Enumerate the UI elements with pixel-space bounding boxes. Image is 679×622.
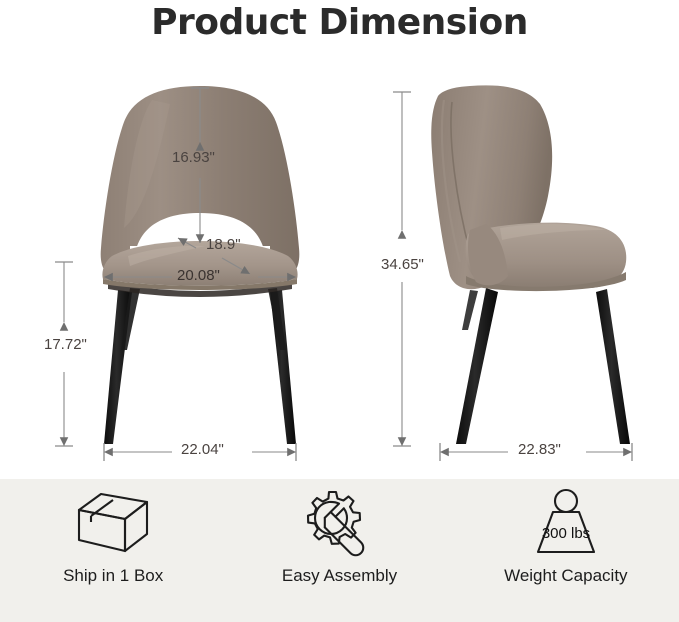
dimension-label-overall-width: 22.04" [181,441,224,458]
dimension-label-seat-depth: 18.9" [206,236,241,253]
shipping-box-icon [71,488,155,560]
dimension-label-back-height: 16.93" [172,149,215,166]
dimension-label-overall-height: 34.65" [381,256,424,273]
features-panel: Ship in 1 Box Easy Assembly [0,479,679,622]
dimension-diagram: 16.93" 18.9" 20.08" 17.72" 22.04" 34.65"… [0,0,679,479]
feature-label: Ship in 1 Box [63,566,163,586]
feature-label: Weight Capacity [504,566,627,586]
product-dimension-infographic: Product Dimension [0,0,679,622]
weight-icon: 300 lbs [520,488,612,560]
dimension-label-seat-width: 20.08" [177,267,220,284]
side-view-chair-graphic [431,85,630,444]
gear-wrench-icon [299,488,379,560]
feature-label: Easy Assembly [282,566,397,586]
dimension-label-seat-height: 17.72" [44,336,87,353]
dimension-label-overall-depth: 22.83" [518,441,561,458]
weight-value: 300 lbs [542,525,590,542]
feature-weight-capacity: 300 lbs Weight Capacity [453,479,679,622]
feature-easy-assembly: Easy Assembly [226,479,452,622]
feature-ship-in-one-box: Ship in 1 Box [0,479,226,622]
